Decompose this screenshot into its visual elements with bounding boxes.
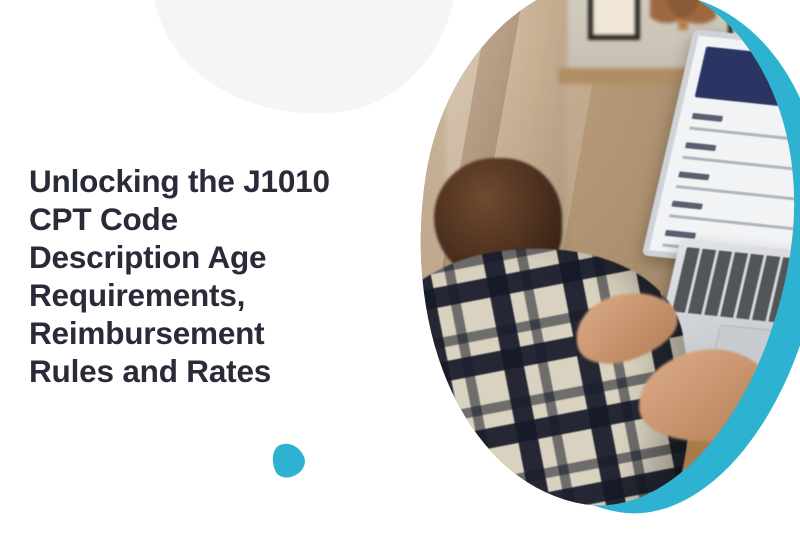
form-field-line: [689, 127, 800, 146]
blog-banner: Unlocking the J1010 CPT Code Description…: [0, 0, 800, 538]
form-field-label: [692, 113, 723, 122]
laptop-screen-header-bar: [695, 46, 800, 113]
page-title: Unlocking the J1010 CPT Code Description…: [29, 162, 374, 390]
artwork-cluster: [330, 0, 800, 538]
form-field-label: [671, 201, 702, 210]
rounded-triangle-accent: [266, 438, 309, 482]
form-field-line: [682, 156, 800, 175]
organic-blob-photo-mask: [379, 0, 800, 530]
photo-person-typing-on-laptop: [379, 0, 800, 530]
form-field-label: [665, 230, 696, 239]
form-field-line: [669, 214, 800, 233]
form-field-label: [685, 142, 716, 151]
form-field-label: [678, 171, 709, 180]
form-field-line: [676, 185, 800, 204]
picture-frame-icon: [588, 0, 640, 40]
